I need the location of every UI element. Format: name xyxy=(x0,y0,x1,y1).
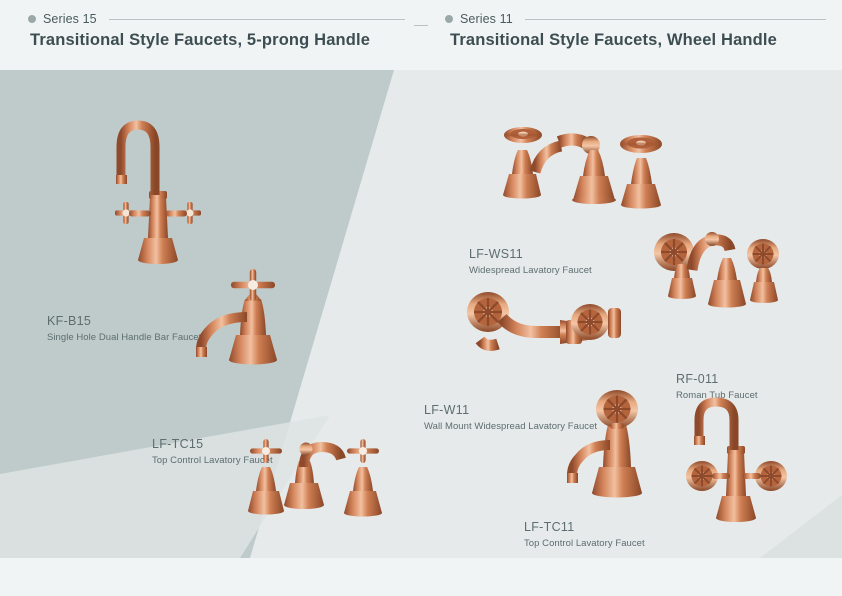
widespread-faucet-wheel-icon xyxy=(495,100,665,210)
top-control-faucet-5prong-icon xyxy=(185,255,310,365)
sku-kf-b15: KF-B15 xyxy=(47,314,201,328)
gooseneck-bar-faucet-wheel-icon xyxy=(678,390,793,525)
caption-kf-b15: KF-B15 Single Hole Dual Handle Bar Fauce… xyxy=(47,314,201,343)
sku-lf-tc11: LF-TC11 xyxy=(524,520,645,534)
roman-tub-faucet-wheel-icon xyxy=(650,220,785,310)
wall-mount-faucet-wheel-icon xyxy=(462,270,627,360)
desc-lf-tc11: Top Control Lavatory Faucet xyxy=(524,538,645,549)
product-image-kf-b15 xyxy=(98,105,218,270)
series-15-label: Series 15 xyxy=(43,12,97,26)
desc-kf-b15: Single Hole Dual Handle Bar Faucet xyxy=(47,332,201,343)
series-11-rule xyxy=(525,19,826,20)
header-column-series-15: Series 15 Transitional Style Faucets, 5-… xyxy=(0,0,421,70)
gooseneck-bar-faucet-5prong-icon xyxy=(98,105,218,270)
footer-strip xyxy=(0,558,842,596)
sku-lf-ws11: LF-WS11 xyxy=(469,247,592,261)
product-canvas: KF-B15 Single Hole Dual Handle Bar Fauce… xyxy=(0,70,842,558)
widespread-faucet-5prong-icon xyxy=(240,425,395,520)
page-header: Series 15 Transitional Style Faucets, 5-… xyxy=(0,0,842,70)
product-image-lf-ws15 xyxy=(240,425,395,520)
caption-lf-tc11: LF-TC11 Top Control Lavatory Faucet xyxy=(524,520,645,549)
catalog-page: Series 15 Transitional Style Faucets, 5-… xyxy=(0,0,842,596)
series-15-row: Series 15 xyxy=(28,12,407,26)
series-11-title: Transitional Style Faucets, Wheel Handle xyxy=(450,31,777,50)
product-image-lf-tc11 xyxy=(562,375,672,500)
series-11-row: Series 11 xyxy=(445,12,828,26)
sku-rf-011: RF-011 xyxy=(676,372,758,386)
product-image-rf-011 xyxy=(650,220,785,310)
series-15-rule xyxy=(109,19,405,20)
bullet-dot-icon xyxy=(445,15,453,23)
series-15-title: Transitional Style Faucets, 5-prong Hand… xyxy=(30,31,370,50)
product-image-lf-tc15 xyxy=(185,255,310,365)
top-control-faucet-wheel-icon xyxy=(562,375,672,500)
series-11-label: Series 11 xyxy=(460,12,513,26)
product-image-lf-w11 xyxy=(462,270,627,360)
product-image-lf-ws11 xyxy=(495,100,665,210)
header-column-series-11: Series 11 Transitional Style Faucets, Wh… xyxy=(421,0,842,70)
header-rule-connector xyxy=(414,25,428,26)
bullet-dot-icon xyxy=(28,15,36,23)
product-image-kf-b11 xyxy=(678,390,793,525)
